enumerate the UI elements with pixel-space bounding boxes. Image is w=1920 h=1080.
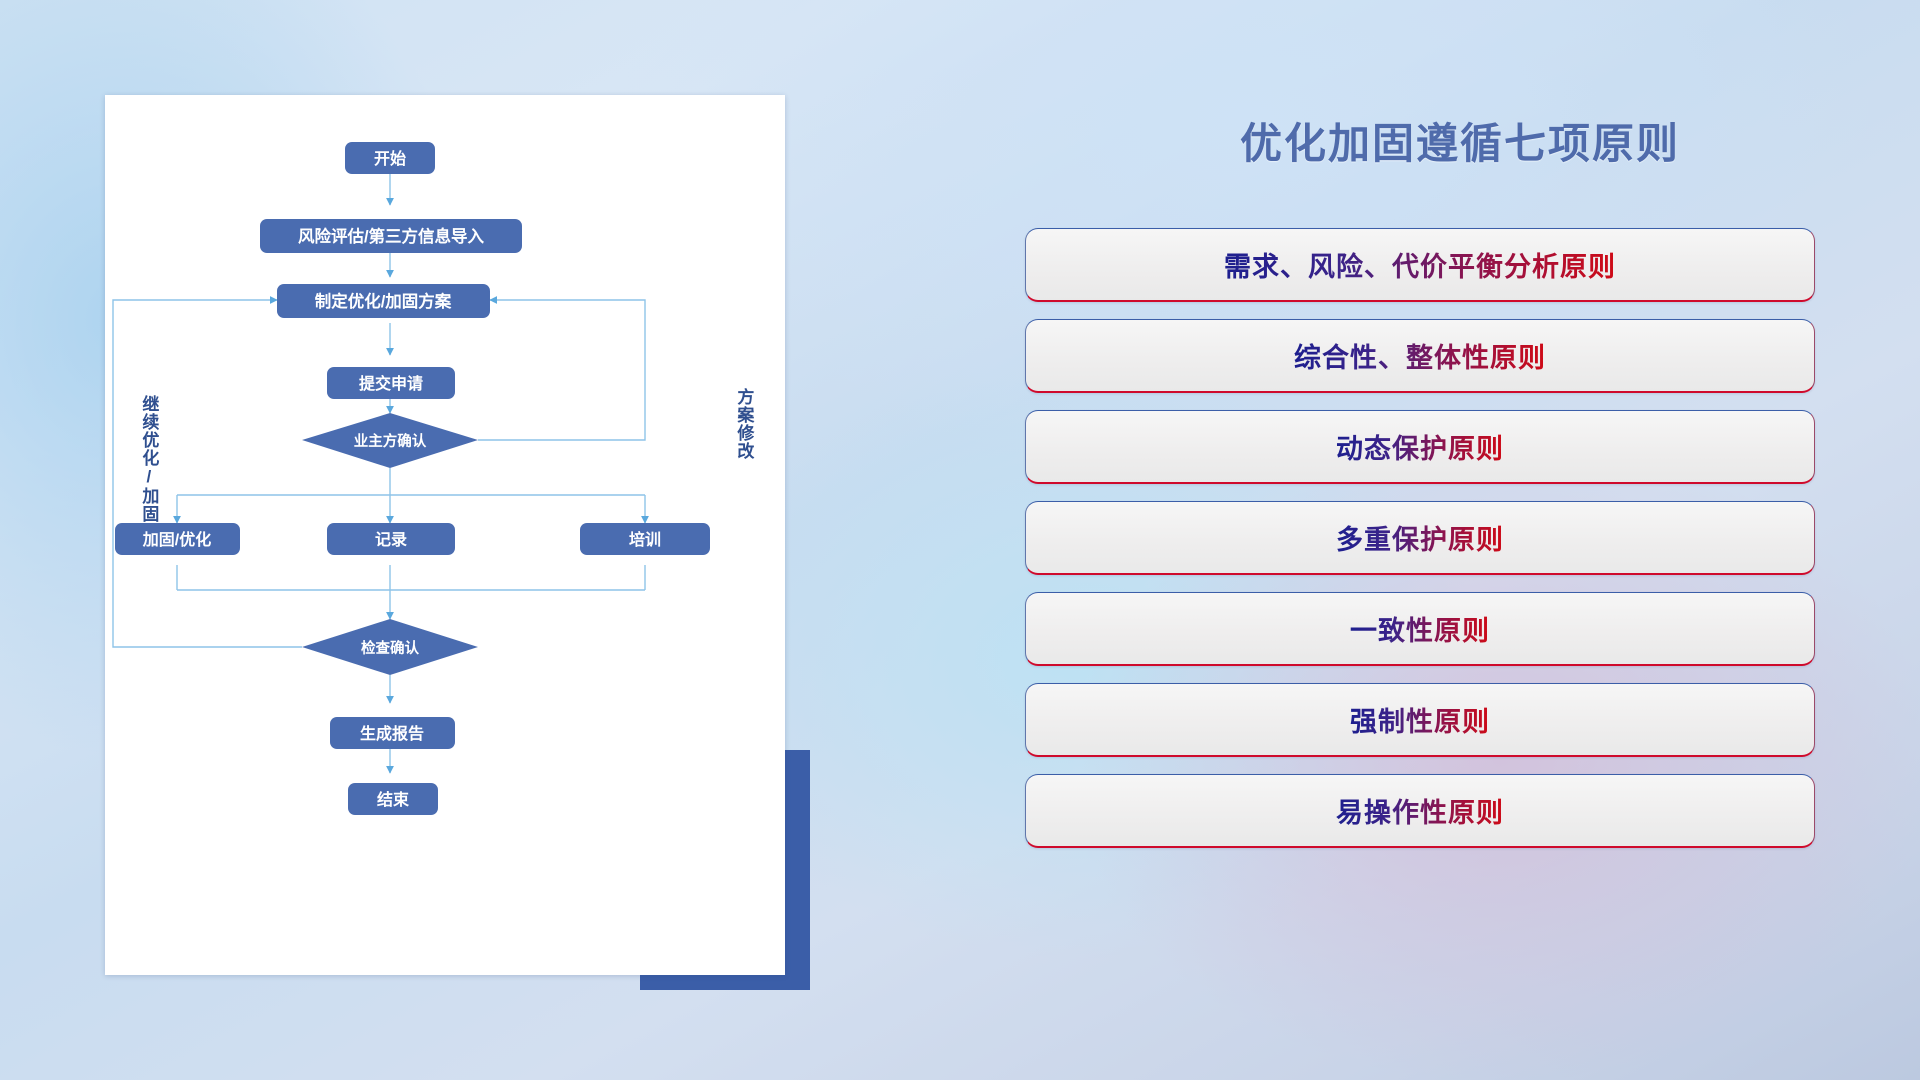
flow-edge-label-continue-optimize: 继续优化/加固 [140, 395, 157, 523]
flowchart-region: 开始 风险评估/第三方信息导入 制定优化/加固方案 提交申请 业主方确认 加固/… [0, 0, 820, 1080]
principles-list: 需求、风险、代价平衡分析原则 综合性、整体性原则 动态保护原则 多重保护原则 一… [1025, 228, 1815, 865]
principle-card-label: 需求、风险、代价平衡分析原则 [1224, 245, 1616, 284]
flow-node-make-plan[interactable]: 制定优化/加固方案 [277, 284, 490, 318]
principle-card[interactable]: 综合性、整体性原则 [1025, 319, 1815, 393]
flow-node-label: 记录 [375, 531, 407, 549]
flow-edge-label-plan-revision: 方案修改 [735, 388, 752, 460]
flow-node-label: 业主方确认 [354, 432, 427, 450]
principle-card-label: 综合性、整体性原则 [1294, 336, 1546, 375]
flow-node-end[interactable]: 结束 [348, 783, 438, 815]
flow-node-owner-confirm[interactable]: 业主方确认 [302, 413, 478, 468]
principles-panel: 优化加固遵循七项原则 需求、风险、代价平衡分析原则 综合性、整体性原则 动态保护… [1010, 0, 1920, 1080]
flow-node-label: 结束 [376, 790, 410, 809]
flow-node-start[interactable]: 开始 [345, 142, 435, 174]
page-title: 优化加固遵循七项原则 [1010, 110, 1910, 171]
principle-card-label: 多重保护原则 [1336, 518, 1504, 557]
flow-node-label: 开始 [374, 149, 406, 168]
flow-node-label: 提交申请 [359, 374, 423, 393]
principle-card[interactable]: 多重保护原则 [1025, 501, 1815, 575]
principle-card[interactable]: 易操作性原则 [1025, 774, 1815, 848]
principle-card[interactable]: 强制性原则 [1025, 683, 1815, 757]
flow-node-record[interactable]: 记录 [327, 523, 455, 555]
principle-card[interactable]: 需求、风险、代价平衡分析原则 [1025, 228, 1815, 302]
flow-node-label: 制定优化/加固方案 [315, 291, 452, 311]
flowchart-svg: 开始 风险评估/第三方信息导入 制定优化/加固方案 提交申请 业主方确认 加固/… [105, 95, 785, 975]
flow-node-training[interactable]: 培训 [580, 523, 710, 555]
flow-node-generate-report[interactable]: 生成报告 [330, 717, 455, 749]
flow-node-submit-application[interactable]: 提交申请 [327, 367, 455, 399]
flow-node-check-confirm[interactable]: 检查确认 [302, 619, 478, 675]
principle-card-label: 易操作性原则 [1336, 791, 1504, 830]
flow-node-label: 加固/优化 [142, 530, 211, 549]
flow-node-label: 风险评估/第三方信息导入 [298, 226, 485, 246]
principle-card-label: 一致性原则 [1350, 609, 1490, 648]
principle-card-label: 强制性原则 [1350, 700, 1490, 739]
principle-card-label: 动态保护原则 [1336, 427, 1504, 466]
principle-card[interactable]: 动态保护原则 [1025, 410, 1815, 484]
flow-node-label: 培训 [629, 530, 661, 549]
flow-node-risk-assessment[interactable]: 风险评估/第三方信息导入 [260, 219, 522, 253]
flow-node-label: 检查确认 [361, 639, 419, 657]
flow-node-reinforce-optimize[interactable]: 加固/优化 [115, 523, 240, 555]
flow-node-label: 生成报告 [360, 724, 424, 743]
principle-card[interactable]: 一致性原则 [1025, 592, 1815, 666]
